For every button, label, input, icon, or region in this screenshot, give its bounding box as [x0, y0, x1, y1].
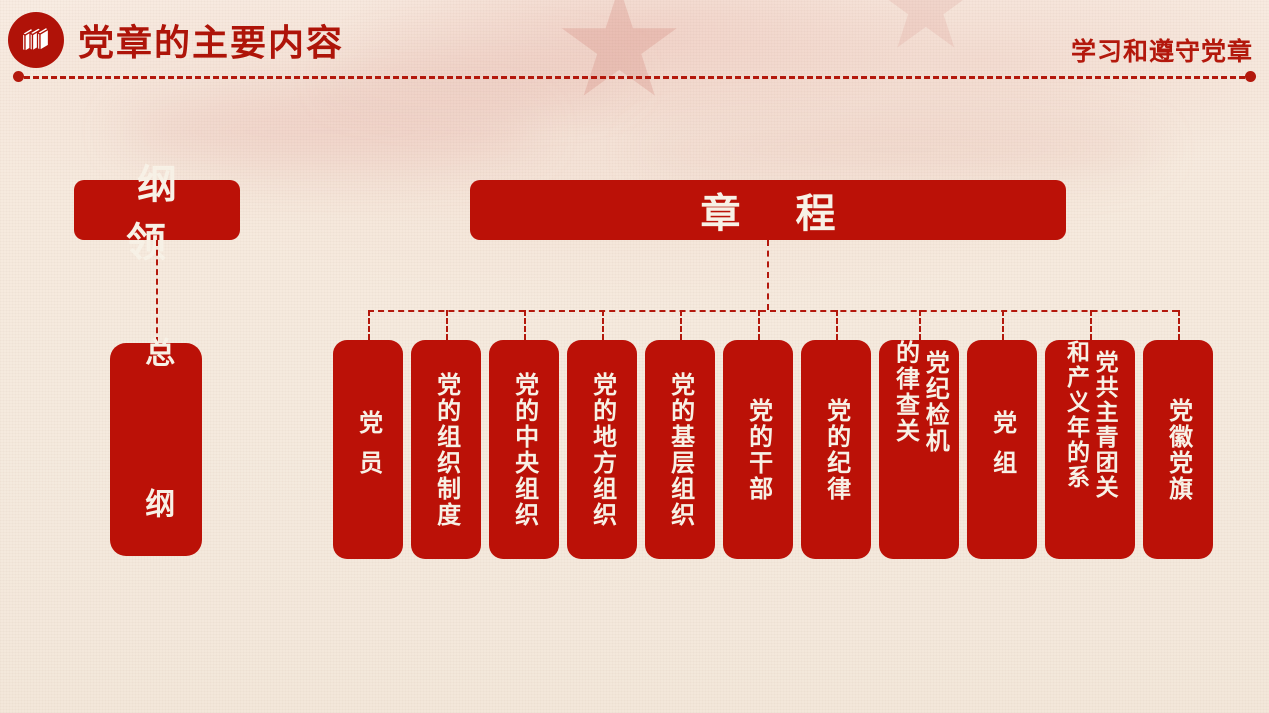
connector-stub-difang [602, 310, 604, 340]
slide-canvas: ★ ★ 党章的主要内容 学习和遵守党章 [0, 0, 1269, 713]
connector-stub-jilv [836, 310, 838, 340]
node-jijian-label: 党纪检机的律查关 [883, 350, 955, 549]
node-jijian-column-b: 的律查关 [890, 340, 919, 444]
node-dangyuan-label: 党员 [353, 410, 382, 490]
node-zonggang-label: 总 纲 [138, 337, 175, 562]
header-divider [24, 76, 1245, 79]
node-ganbu[interactable]: 党的干部 [723, 340, 793, 559]
node-jilv-label: 党的纪律 [821, 398, 850, 502]
node-zonggang[interactable]: 总 纲 [110, 343, 202, 556]
node-zuzhizhidu-label: 党的组织制度 [431, 372, 460, 528]
node-zuzhizhidu[interactable]: 党的组织制度 [411, 340, 481, 559]
node-difang[interactable]: 党的地方组织 [567, 340, 637, 559]
connector-stub-zuzhizhidu [446, 310, 448, 340]
connector-gangling-to-zonggang [156, 240, 158, 343]
node-ganbu-label: 党的干部 [743, 398, 772, 502]
connector-stub-zhongyang [524, 310, 526, 340]
node-zhongyang[interactable]: 党的中央组织 [489, 340, 559, 559]
connector-zhangcheng-trunk [767, 240, 769, 310]
section-label: 学习和遵守党章 [1071, 32, 1253, 68]
connector-stub-gongqingtuan [1090, 310, 1092, 340]
connector-horizontal-bus [368, 310, 1178, 312]
divider-dot-right [1245, 71, 1256, 82]
node-zhongyang-label: 党的中央组织 [509, 372, 538, 528]
connector-stub-danghuidangqi [1178, 310, 1180, 340]
node-jijian[interactable]: 党纪检机的律查关 [879, 340, 959, 559]
node-zhangcheng[interactable]: 章 程 [470, 180, 1066, 240]
connector-stub-dangzu [1002, 310, 1004, 340]
node-dangzu[interactable]: 党组 [967, 340, 1037, 559]
divider-dot-left [13, 71, 24, 82]
page-title: 党章的主要内容 [78, 14, 344, 66]
connector-stub-dangyuan [368, 310, 370, 340]
node-jiceng-label: 党的基层组织 [665, 372, 694, 528]
books-icon [8, 12, 64, 68]
slide-header: 党章的主要内容 学习和遵守党章 [0, 0, 1269, 88]
node-jiceng[interactable]: 党的基层组织 [645, 340, 715, 559]
connector-stub-jijian [919, 310, 921, 340]
node-gongqingtuan-column-a: 党共主青团关 [1091, 350, 1119, 500]
node-jijian-column-a: 党纪检机 [920, 350, 949, 454]
node-gangling[interactable]: 纲 领 [74, 180, 240, 240]
node-gongqingtuan-label: 党共主青团关和产义年的系 [1049, 350, 1131, 549]
node-difang-label: 党的地方组织 [587, 372, 616, 528]
node-dangyuan[interactable]: 党员 [333, 340, 403, 559]
node-gongqingtuan[interactable]: 党共主青团关和产义年的系 [1045, 340, 1135, 559]
connector-stub-jiceng [680, 310, 682, 340]
node-jilv[interactable]: 党的纪律 [801, 340, 871, 559]
node-danghuidangqi-label: 党徽党旗 [1163, 398, 1192, 502]
node-dangzu-label: 党组 [987, 410, 1016, 490]
node-gongqingtuan-column-b: 和产义年的系 [1062, 340, 1090, 490]
node-danghuidangqi[interactable]: 党徽党旗 [1143, 340, 1213, 559]
connector-stub-ganbu [758, 310, 760, 340]
org-tree-diagram: 纲 领 章 程 总 纲 党员党的组织制度党的中央组织党的地方组织党的基层组织党的… [0, 0, 1269, 713]
